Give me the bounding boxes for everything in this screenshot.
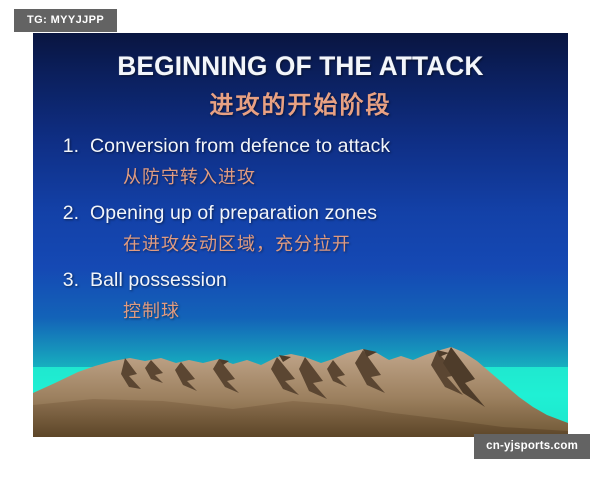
list-item-english-row: 1. Conversion from defence to attack xyxy=(56,135,546,158)
slide-title-chinese: 进攻的开始阶段 xyxy=(33,85,568,120)
list-item-english-row: 3. Ball possession xyxy=(56,269,546,292)
list-item-chinese-text: 从防守转入进攻 xyxy=(56,163,546,189)
list-item: 2. Opening up of preparation zones 在进攻发动… xyxy=(56,202,546,256)
presentation-slide: BEGINNING OF THE ATTACK 进攻的开始阶段 1. Conve… xyxy=(33,33,568,437)
list-item-number: 2. xyxy=(56,202,90,225)
list-item-english-text: Conversion from defence to attack xyxy=(90,135,390,158)
slide-title-english: BEGINNING OF THE ATTACK xyxy=(41,51,560,82)
site-watermark: cn-yjsports.com xyxy=(474,434,590,460)
list-item-chinese-text: 在进攻发动区域，充分拉开 xyxy=(56,230,546,256)
mountain-range-illustration xyxy=(33,327,568,437)
slide-title-block: BEGINNING OF THE ATTACK 进攻的开始阶段 xyxy=(33,51,568,120)
list-item-english-text: Opening up of preparation zones xyxy=(90,202,377,225)
telegram-tag-badge: TG: MYYJJPP xyxy=(14,9,117,32)
page-canvas: BEGINNING OF THE ATTACK 进攻的开始阶段 1. Conve… xyxy=(0,0,600,480)
list-item-chinese-text: 控制球 xyxy=(56,297,546,323)
list-item-number: 1. xyxy=(56,135,90,158)
list-item-english-text: Ball possession xyxy=(90,269,227,292)
list-item: 3. Ball possession 控制球 xyxy=(56,269,546,323)
list-item: 1. Conversion from defence to attack 从防守… xyxy=(56,135,546,189)
slide-numbered-list: 1. Conversion from defence to attack 从防守… xyxy=(56,135,546,336)
list-item-english-row: 2. Opening up of preparation zones xyxy=(56,202,546,225)
list-item-number: 3. xyxy=(56,269,90,292)
